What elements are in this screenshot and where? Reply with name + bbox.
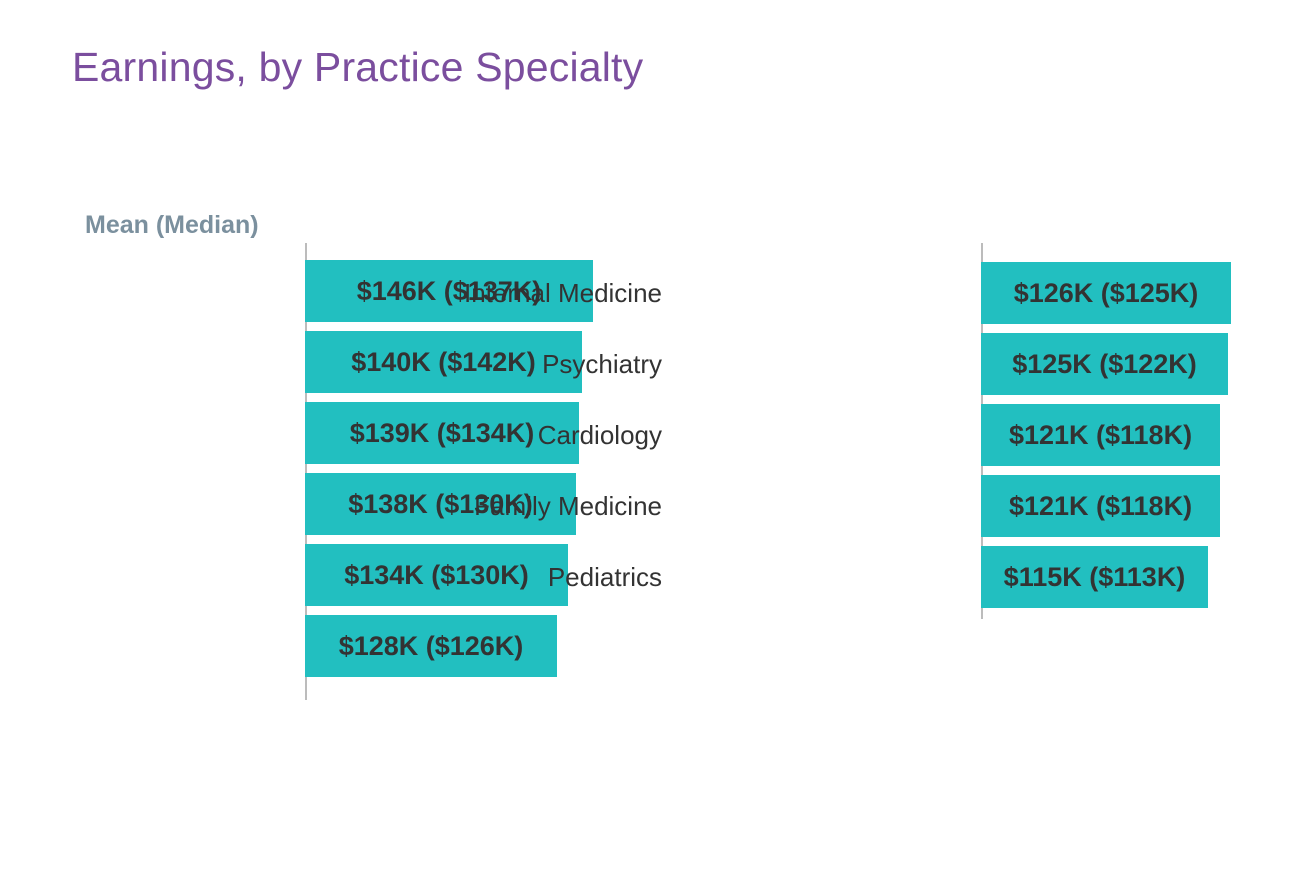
bar-value-oncology: $128K ($126K) bbox=[339, 631, 524, 662]
bar-oncology[interactable]: $128K ($126K) bbox=[305, 615, 557, 677]
bar-row-psychiatry[interactable]: Psychiatry $125K ($122K) bbox=[676, 333, 1290, 395]
category-label-psychiatry: Psychiatry bbox=[102, 333, 676, 395]
bar-value-internal-medicine: $126K ($125K) bbox=[1014, 278, 1199, 309]
bar-row-family-medicine[interactable]: Family Medicine $121K ($118K) bbox=[676, 475, 1290, 537]
bar-value-family-medicine: $121K ($118K) bbox=[1009, 491, 1192, 522]
bar-value-pediatrics: $115K ($113K) bbox=[1004, 562, 1186, 593]
bar-pediatrics[interactable]: $115K ($113K) bbox=[981, 546, 1208, 608]
bar-value-cardiology: $121K ($118K) bbox=[1009, 420, 1192, 451]
bar-row-pediatrics[interactable]: Pediatrics $115K ($113K) bbox=[676, 546, 1290, 608]
category-label-cardiology: Cardiology bbox=[102, 404, 676, 466]
page-title: Earnings, by Practice Specialty bbox=[72, 44, 643, 91]
bar-psychiatry[interactable]: $125K ($122K) bbox=[981, 333, 1228, 395]
bar-value-psychiatry: $125K ($122K) bbox=[1012, 349, 1197, 380]
category-label-internal-medicine: Internal Medicine bbox=[102, 262, 676, 324]
axis-header-mean-median: Mean (Median) bbox=[85, 211, 259, 240]
bar-cardiology[interactable]: $121K ($118K) bbox=[981, 404, 1220, 466]
bar-row-internal-medicine[interactable]: Internal Medicine $126K ($125K) bbox=[676, 262, 1290, 324]
category-label-family-medicine: Family Medicine bbox=[102, 475, 676, 537]
category-label-pediatrics: Pediatrics bbox=[102, 546, 676, 608]
bar-row-oncology[interactable]: Oncology $128K ($126K) bbox=[0, 615, 640, 677]
bar-row-cardiology[interactable]: Cardiology $121K ($118K) bbox=[676, 404, 1290, 466]
bar-family-medicine[interactable]: $121K ($118K) bbox=[981, 475, 1220, 537]
bar-internal-medicine[interactable]: $126K ($125K) bbox=[981, 262, 1231, 324]
